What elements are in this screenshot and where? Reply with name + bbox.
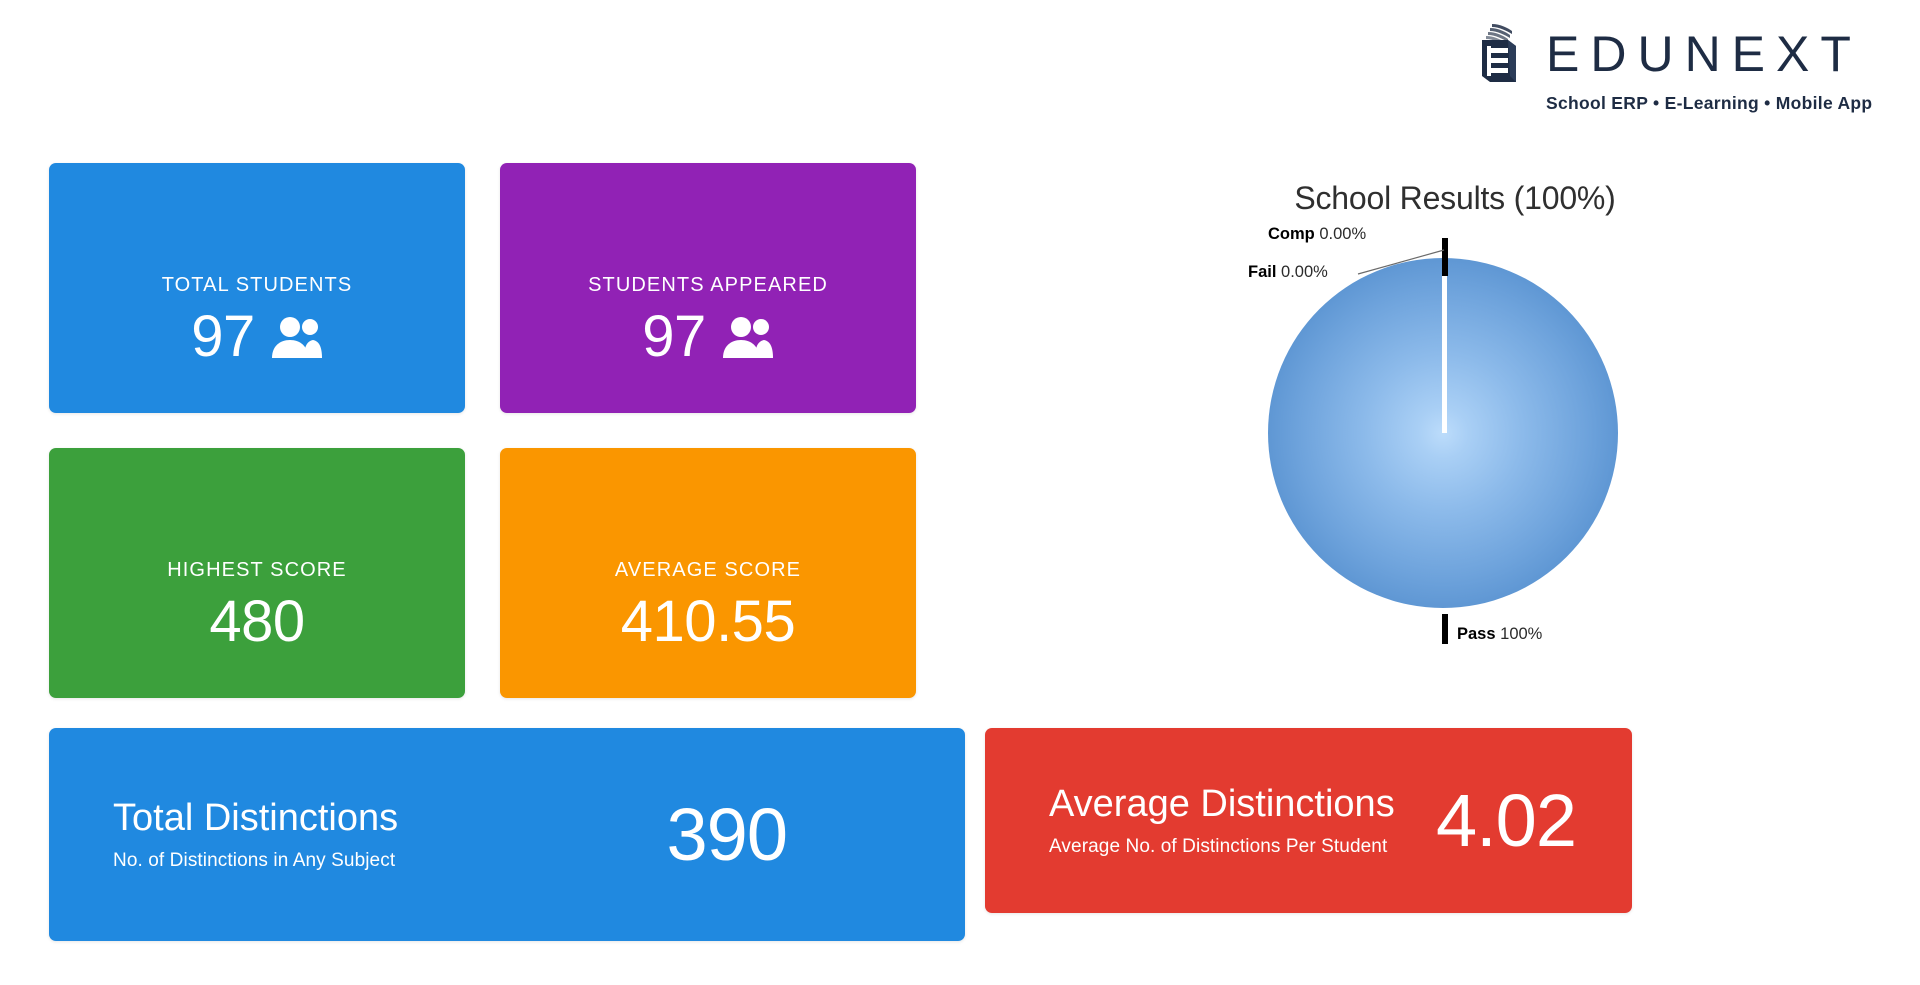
chart-title: School Results (100%): [1220, 180, 1690, 217]
banner-average-distinctions[interactable]: Average Distinctions Average No. of Dist…: [985, 728, 1632, 913]
banner-subtitle: No. of Distinctions in Any Subject: [113, 850, 398, 872]
pie-label-fail-value: 0.00%: [1281, 263, 1328, 281]
brand-row: EDUNEXT: [1478, 22, 1862, 86]
brand-name: EDUNEXT: [1546, 29, 1862, 79]
kpi-card-highest-score[interactable]: HIGHEST SCORE 480: [49, 448, 465, 698]
kpi-value: 97: [642, 308, 706, 366]
banner-value: 390: [667, 798, 787, 872]
brand-logo: EDUNEXT School ERP • E-Learning • Mobile…: [1478, 22, 1898, 114]
kpi-value: 480: [209, 593, 304, 651]
pie-label-pass-name: Pass: [1457, 625, 1496, 643]
kpi-value: 97: [191, 308, 255, 366]
pie-label-fail: Fail 0.00%: [1248, 263, 1328, 282]
kpi-value-row: 97: [642, 303, 774, 371]
banner-title: Average Distinctions: [1049, 783, 1395, 824]
kpi-label: AVERAGE SCORE: [615, 559, 801, 582]
kpi-label: HIGHEST SCORE: [167, 559, 347, 582]
kpi-value-row: 410.55: [621, 588, 795, 656]
kpi-value: 410.55: [621, 593, 795, 651]
kpi-value-row: 97: [191, 303, 323, 371]
school-results-chart: School Results (100%) Comp 0.00% Fail 0.…: [1180, 180, 1740, 700]
results-dashboard: EDUNEXT School ERP • E-Learning • Mobile…: [0, 0, 1920, 985]
pie-label-comp-value: 0.00%: [1319, 225, 1366, 243]
pie-label-comp: Comp 0.00%: [1268, 225, 1366, 244]
pie-chart-graphic: [1268, 258, 1618, 608]
banner-total-distinctions[interactable]: Total Distinctions No. of Distinctions i…: [49, 728, 965, 941]
pie-label-pass: Pass 100%: [1457, 625, 1542, 644]
pie-slice-divider: [1442, 256, 1447, 433]
kpi-card-students-appeared[interactable]: STUDENTS APPEARED 97: [500, 163, 916, 413]
banner-text: Total Distinctions No. of Distinctions i…: [113, 797, 398, 871]
leader-line-icon: [1358, 248, 1448, 278]
kpi-label: STUDENTS APPEARED: [588, 274, 828, 297]
open-book-icon: [1478, 22, 1530, 86]
pie-label-comp-name: Comp: [1268, 225, 1315, 243]
kpi-value-row: 480: [209, 588, 304, 656]
kpi-label: TOTAL STUDENTS: [162, 274, 353, 297]
people-icon: [271, 315, 323, 359]
kpi-card-grid: TOTAL STUDENTS 97 STUDENTS APPEARED: [49, 163, 916, 698]
banner-title: Total Distinctions: [113, 797, 398, 838]
kpi-card-total-students[interactable]: TOTAL STUDENTS 97: [49, 163, 465, 413]
pie-label-fail-name: Fail: [1248, 263, 1276, 281]
pie-tick-bottom: [1442, 614, 1448, 644]
brand-tagline: School ERP • E-Learning • Mobile App: [1546, 93, 1872, 114]
pie-label-pass-value: 100%: [1500, 625, 1542, 643]
banner-value: 4.02: [1436, 784, 1576, 858]
banner-subtitle: Average No. of Distinctions Per Student: [1049, 836, 1395, 858]
kpi-card-average-score[interactable]: AVERAGE SCORE 410.55: [500, 448, 916, 698]
people-icon: [722, 315, 774, 359]
banner-text: Average Distinctions Average No. of Dist…: [1049, 783, 1395, 857]
